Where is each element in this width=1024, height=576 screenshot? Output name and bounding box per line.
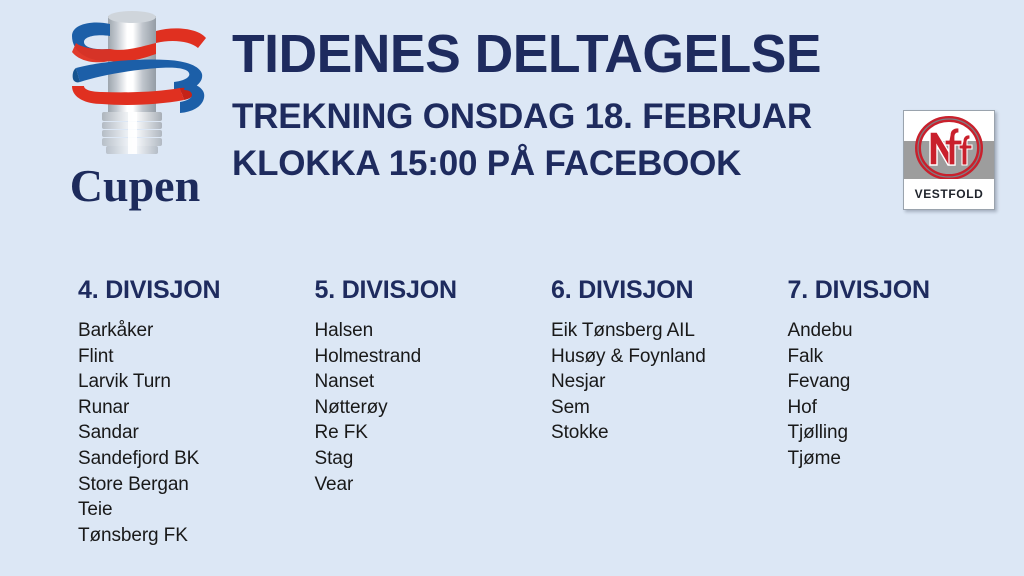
list-item: Nesjar	[551, 369, 788, 395]
subtitle-draw-date: TREKNING ONSDAG 18. FEBRUAR	[232, 94, 892, 139]
cupen-wordmark: Cupen	[40, 158, 230, 214]
list-item: Runar	[78, 395, 315, 421]
division-heading-5: 5. DIVISJON	[315, 275, 552, 305]
list-item: Nanset	[315, 369, 552, 395]
list-item: Sem	[551, 395, 788, 421]
cupen-logo: Cupen	[40, 8, 230, 220]
list-item: Tjølling	[788, 420, 1024, 446]
list-item: Halsen	[315, 318, 552, 344]
division-heading-6: 6. DIVISJON	[551, 275, 788, 305]
division-heading-7: 7. DIVISJON	[788, 275, 1024, 305]
division-column-4: 4. DIVISJON Barkåker Flint Larvik Turn R…	[78, 275, 315, 548]
team-list-4: Barkåker Flint Larvik Turn Runar Sandar …	[78, 318, 315, 548]
division-heading-4: 4. DIVISJON	[78, 275, 315, 305]
team-list-7: Andebu Falk Fevang Hof Tjølling Tjøme	[788, 318, 1024, 472]
poster-header: Cupen TIDENES DELTAGELSE TREKNING ONSDAG…	[0, 0, 1024, 232]
list-item: Sandar	[78, 420, 315, 446]
list-item: Sandefjord BK	[78, 446, 315, 472]
list-item: Stokke	[551, 420, 788, 446]
list-item: Andebu	[788, 318, 1024, 344]
nff-monogram-icon	[904, 115, 994, 181]
team-list-6: Eik Tønsberg AIL Husøy & Foynland Nesjar…	[551, 318, 788, 446]
poster-canvas: Cupen TIDENES DELTAGELSE TREKNING ONSDAG…	[0, 0, 1024, 576]
list-item: Fevang	[788, 369, 1024, 395]
badge-region-strip: VESTFOLD	[904, 179, 994, 209]
list-item: Nøtterøy	[315, 395, 552, 421]
list-item: Barkåker	[78, 318, 315, 344]
list-item: Eik Tønsberg AIL	[551, 318, 788, 344]
trophy-base	[102, 112, 162, 154]
badge-region-label: VESTFOLD	[915, 187, 984, 201]
nff-vestfold-badge: VESTFOLD	[903, 110, 995, 210]
main-title: TIDENES DELTAGELSE	[232, 22, 885, 86]
team-list-5: Halsen Holmestrand Nanset Nøtterøy Re FK…	[315, 318, 552, 497]
list-item: Larvik Turn	[78, 369, 315, 395]
division-column-7: 7. DIVISJON Andebu Falk Fevang Hof Tjøll…	[788, 275, 1024, 548]
list-item: Flint	[78, 344, 315, 370]
list-item: Hof	[788, 395, 1024, 421]
divisions-container: 4. DIVISJON Barkåker Flint Larvik Turn R…	[78, 275, 1024, 548]
title-block: TIDENES DELTAGELSE TREKNING ONSDAG 18. F…	[232, 22, 892, 186]
list-item: Holmestrand	[315, 344, 552, 370]
list-item: Tjøme	[788, 446, 1024, 472]
list-item: Re FK	[315, 420, 552, 446]
list-item: Stag	[315, 446, 552, 472]
list-item: Teie	[78, 497, 315, 523]
trophy-column	[102, 11, 162, 154]
list-item: Husøy & Foynland	[551, 344, 788, 370]
list-item: Vear	[315, 472, 552, 498]
list-item: Falk	[788, 344, 1024, 370]
list-item: Tønsberg FK	[78, 523, 315, 549]
division-column-5: 5. DIVISJON Halsen Holmestrand Nanset Nø…	[315, 275, 552, 548]
subtitle-time-channel: KLOKKA 15:00 PÅ FACEBOOK	[232, 141, 892, 186]
list-item: Store Bergan	[78, 472, 315, 498]
cupen-trophy-ribbon-icon	[58, 8, 218, 158]
division-column-6: 6. DIVISJON Eik Tønsberg AIL Husøy & Foy…	[551, 275, 788, 548]
